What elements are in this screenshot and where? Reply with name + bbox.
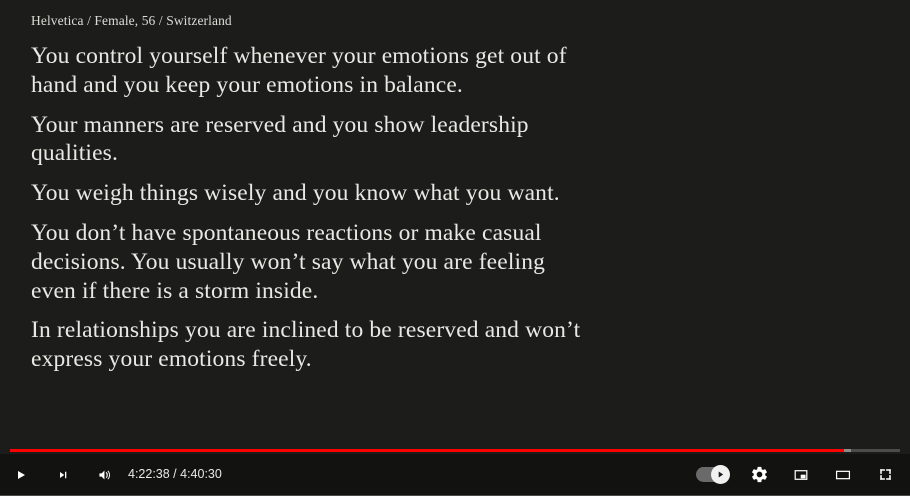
- slide-paragraph: Your manners are reserved and you show l…: [31, 111, 591, 169]
- next-track-icon: [54, 466, 72, 484]
- autoplay-toggle-track: [696, 467, 729, 482]
- slide-paragraph: You don’t have spontaneous reactions or …: [31, 219, 591, 305]
- progress-bar[interactable]: [0, 447, 910, 454]
- volume-button[interactable]: [84, 454, 126, 495]
- slide-paragraph: You control yourself whenever your emoti…: [31, 42, 591, 100]
- play-icon: [12, 466, 30, 484]
- controls-left-group: 4:22:38 / 4:40:30: [0, 454, 228, 495]
- progress-played: [10, 449, 844, 452]
- time-display: 4:22:38 / 4:40:30: [126, 454, 228, 495]
- fullscreen-button[interactable]: [864, 454, 906, 495]
- fullscreen-icon: [875, 464, 896, 485]
- theater-icon: [832, 464, 854, 486]
- volume-icon: [95, 465, 115, 485]
- autoplay-toggle-knob: [711, 465, 730, 484]
- slide-subject-header: Helvetica / Female, 56 / Switzerland: [31, 13, 232, 29]
- slide-paragraph: You weigh things wisely and you know wha…: [31, 179, 591, 208]
- video-surface[interactable]: Helvetica / Female, 56 / Switzerland You…: [0, 0, 910, 455]
- autoplay-toggle[interactable]: [686, 454, 738, 495]
- slide-body: You control yourself whenever your emoti…: [31, 42, 591, 385]
- miniplayer-icon: [790, 464, 812, 486]
- play-small-icon: [716, 470, 725, 479]
- player-control-bar: 4:22:38 / 4:40:30: [0, 454, 910, 495]
- next-video-button[interactable]: [42, 454, 84, 495]
- video-player: Helvetica / Female, 56 / Switzerland You…: [0, 0, 910, 496]
- gear-icon: [750, 465, 769, 484]
- play-button[interactable]: [0, 454, 42, 495]
- controls-right-group: [686, 454, 906, 495]
- miniplayer-button[interactable]: [780, 454, 822, 495]
- theater-mode-button[interactable]: [822, 454, 864, 495]
- slide-paragraph: In relationships you are inclined to be …: [31, 316, 591, 374]
- settings-button[interactable]: [738, 454, 780, 495]
